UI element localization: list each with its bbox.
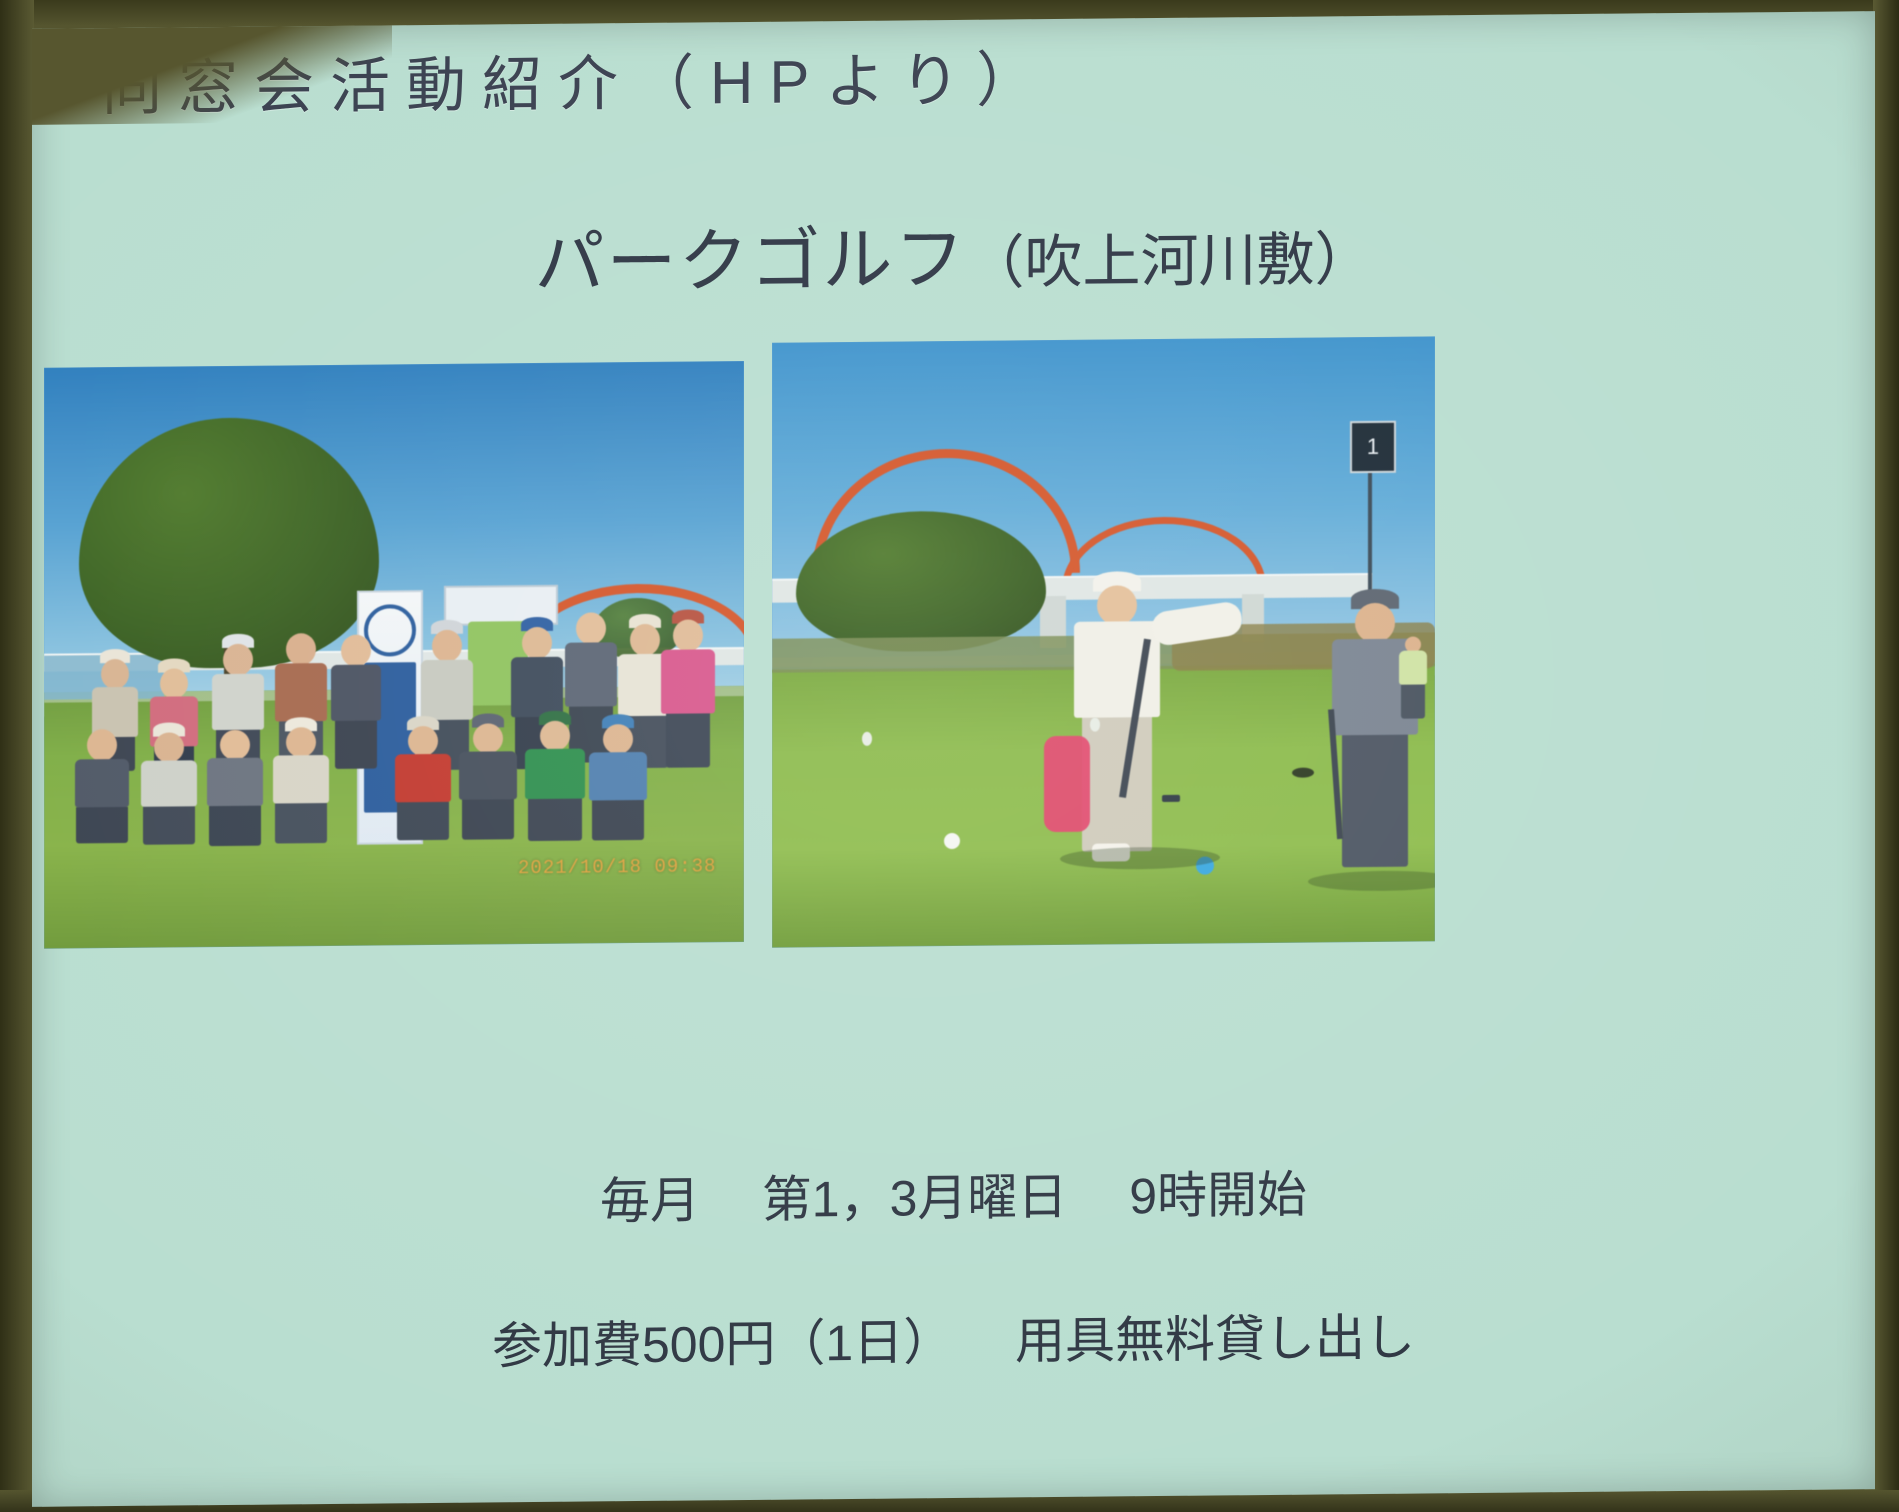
page-title-sub: （吹上河川敷） <box>966 227 1372 296</box>
person <box>74 725 130 846</box>
schedule-start-time: 9時開始 <box>1129 1167 1307 1225</box>
projector-frame: 同窓会活動紹介（HPより） パークゴルフ（吹上河川敷） <box>0 0 1899 1512</box>
flag-marker: 1 <box>1350 421 1396 473</box>
person <box>524 711 586 844</box>
page-title: パークゴルフ（吹上河川敷） <box>32 194 1875 313</box>
participation-fee: 参加費500円（1日） <box>492 1314 953 1374</box>
presentation-slide: 同窓会活動紹介（HPより） パークゴルフ（吹上河川敷） <box>32 11 1875 1507</box>
fee-caption: 参加費500円（1日） 用具無料貸し出し <box>32 1293 1875 1383</box>
golf-club-head <box>1162 795 1180 802</box>
equipment-rental-note: 用具無料貸し出し <box>1015 1310 1415 1370</box>
person <box>394 716 452 843</box>
person <box>272 717 330 846</box>
golf-ball <box>944 833 960 849</box>
screen-corner-shadow <box>32 25 392 124</box>
distant-player <box>1396 636 1430 720</box>
play-photo: 1 <box>772 336 1435 947</box>
frame-bevel-right <box>1873 0 1899 1512</box>
group-photo: 2021/10/18 09:38 <box>44 361 744 949</box>
person <box>330 630 382 770</box>
tee-marker <box>862 732 872 746</box>
person <box>458 713 518 842</box>
golf-bag <box>1044 736 1090 832</box>
person <box>588 714 648 843</box>
person <box>206 726 264 849</box>
frame-bevel-left <box>0 0 34 1512</box>
person <box>140 722 198 847</box>
schedule-frequency: 毎月 <box>600 1172 700 1229</box>
player-putting <box>1320 588 1430 889</box>
schedule-days: 第1，3月曜日 <box>762 1169 1068 1228</box>
page-title-main: パークゴルフ <box>534 220 966 302</box>
schedule-caption: 毎月 第1，3月曜日 9時開始 <box>32 1149 1875 1239</box>
person <box>660 609 716 770</box>
photo-timestamp: 2021/10/18 09:38 <box>518 855 716 879</box>
tee-marker <box>1090 718 1100 732</box>
